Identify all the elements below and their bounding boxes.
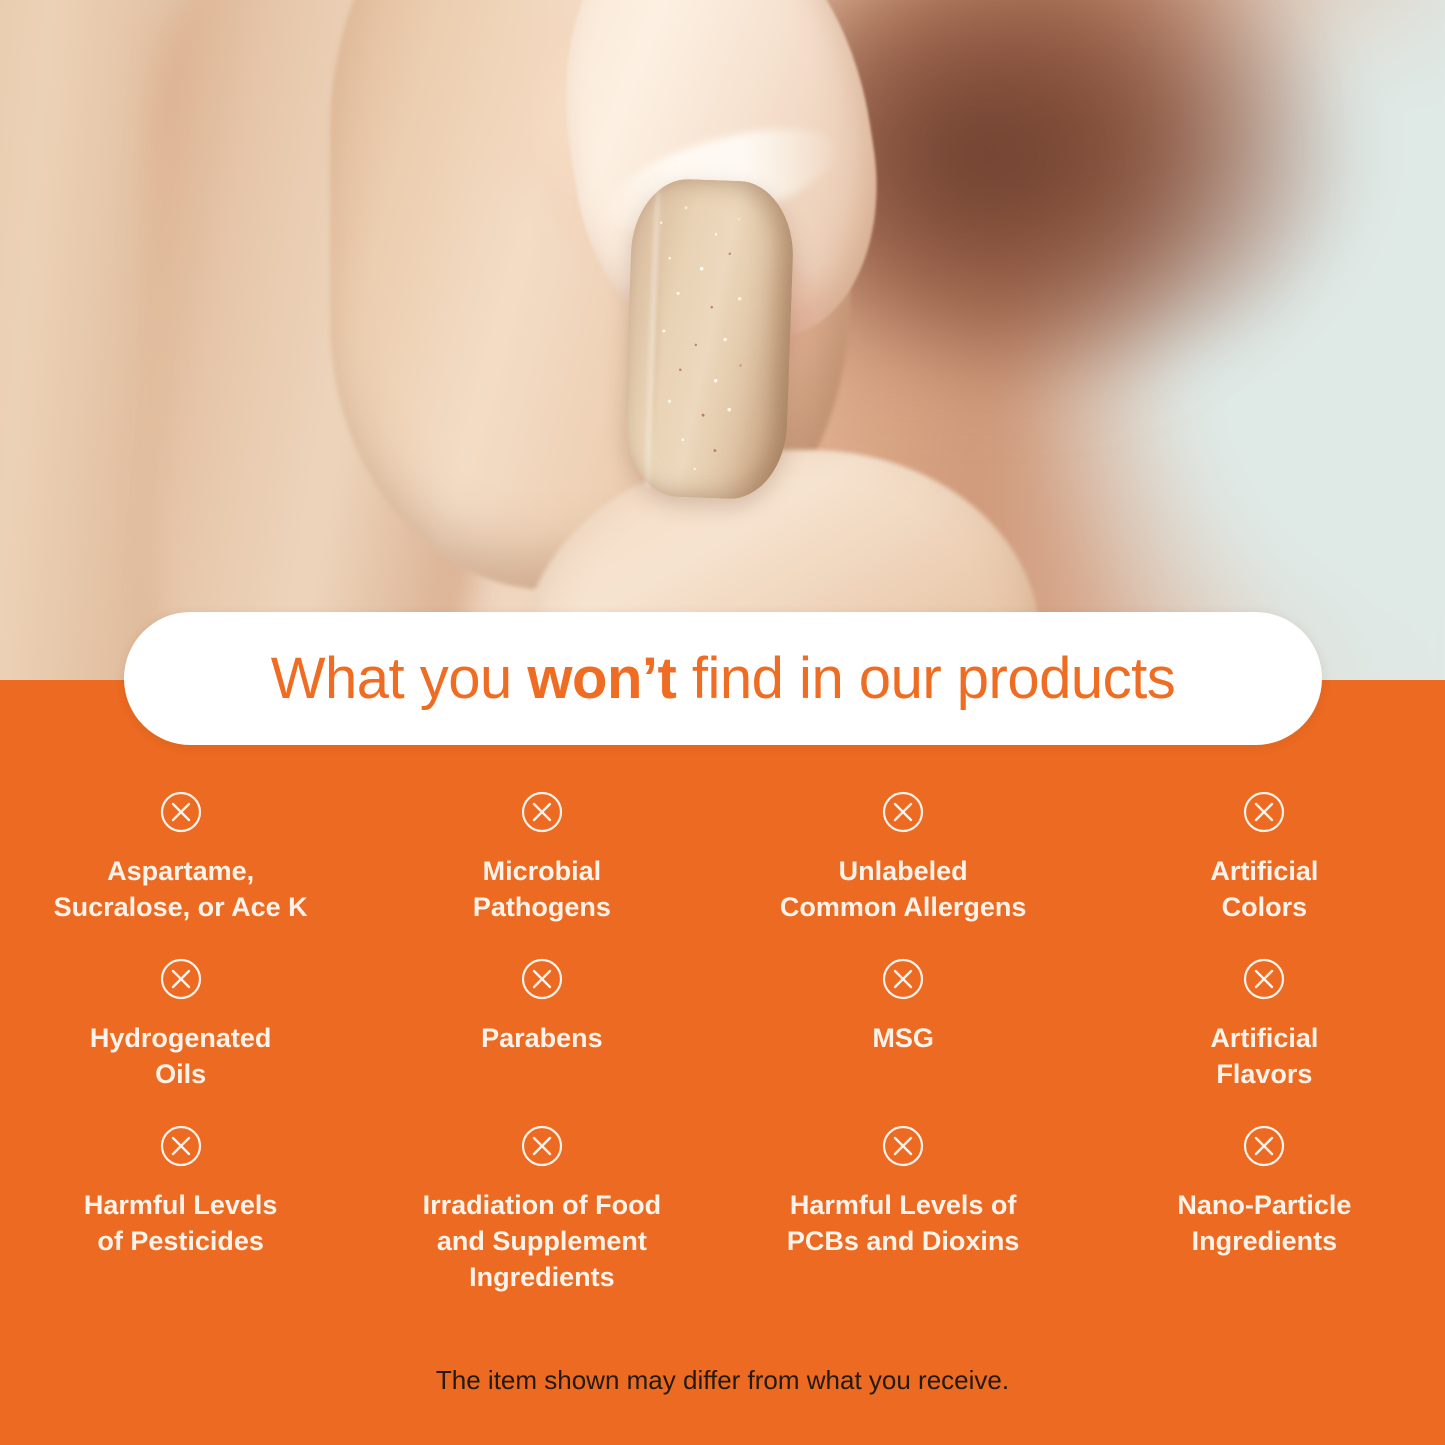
- disclaimer-text: The item shown may differ from what you …: [0, 1365, 1445, 1396]
- circle-x-icon: [1242, 957, 1286, 1001]
- product-photo: [0, 0, 1445, 690]
- exclusions-grid: Aspartame, Sucralose, or Ace KMicrobial …: [0, 790, 1445, 1291]
- exclusion-label: Parabens: [481, 1021, 603, 1057]
- circle-x-icon: [520, 957, 564, 1001]
- exclusion-item-nano-particle-ingredients: Nano-Particle Ingredients: [1084, 1124, 1445, 1291]
- circle-x-icon: [520, 1124, 564, 1168]
- exclusion-label: Harmful Levels of PCBs and Dioxins: [787, 1188, 1020, 1260]
- circle-x-icon: [881, 790, 925, 834]
- exclusion-item-parabens: Parabens: [361, 957, 722, 1124]
- tablet-rim-shading: [623, 177, 796, 500]
- circle-x-icon: [159, 1124, 203, 1168]
- circle-x-icon: [159, 790, 203, 834]
- circle-x-icon: [159, 957, 203, 1001]
- exclusion-item-harmful-levels-pcbs: Harmful Levels of PCBs and Dioxins: [723, 1124, 1084, 1291]
- exclusion-label: Unlabeled Common Allergens: [780, 854, 1027, 926]
- exclusion-label: Aspartame, Sucralose, or Ace K: [54, 854, 308, 926]
- exclusion-item-unlabeled-common-allergens: Unlabeled Common Allergens: [723, 790, 1084, 957]
- exclusion-item-artificial-flavors: Artificial Flavors: [1084, 957, 1445, 1124]
- exclusion-item-hydrogenated-oils: Hydrogenated Oils: [0, 957, 361, 1124]
- headline-before: What you: [271, 646, 528, 711]
- exclusion-item-microbial-pathogens: Microbial Pathogens: [361, 790, 722, 957]
- page-title: What you won’t find in our products: [271, 650, 1175, 708]
- headline-emphasis: won’t: [527, 646, 676, 711]
- exclusion-item-artificial-colors: Artificial Colors: [1084, 790, 1445, 957]
- exclusion-label: MSG: [872, 1021, 934, 1057]
- circle-x-icon: [1242, 790, 1286, 834]
- headline-pill: What you won’t find in our products: [124, 612, 1322, 745]
- exclusion-item-aspartame-sucralose-ace-k: Aspartame, Sucralose, or Ace K: [0, 790, 361, 957]
- exclusion-label: Artificial Colors: [1210, 854, 1318, 926]
- exclusion-item-irradiation-of-food: Irradiation of Food and Supplement Ingre…: [361, 1124, 722, 1291]
- exclusion-item-harmful-levels-pesticides: Harmful Levels of Pesticides: [0, 1124, 361, 1291]
- exclusion-label: Nano-Particle Ingredients: [1177, 1188, 1351, 1260]
- exclusion-label: Microbial Pathogens: [473, 854, 611, 926]
- exclusion-label: Hydrogenated Oils: [90, 1021, 272, 1093]
- exclusion-label: Artificial Flavors: [1210, 1021, 1318, 1093]
- circle-x-icon: [881, 1124, 925, 1168]
- exclusion-label: Harmful Levels of Pesticides: [84, 1188, 278, 1260]
- exclusion-label: Irradiation of Food and Supplement Ingre…: [423, 1188, 661, 1296]
- circle-x-icon: [520, 790, 564, 834]
- circle-x-icon: [1242, 1124, 1286, 1168]
- exclusion-item-msg: MSG: [723, 957, 1084, 1124]
- promo-graphic: What you won’t find in our products Aspa…: [0, 0, 1445, 1445]
- circle-x-icon: [881, 957, 925, 1001]
- headline-after: find in our products: [676, 646, 1175, 711]
- supplement-tablet: [623, 177, 796, 500]
